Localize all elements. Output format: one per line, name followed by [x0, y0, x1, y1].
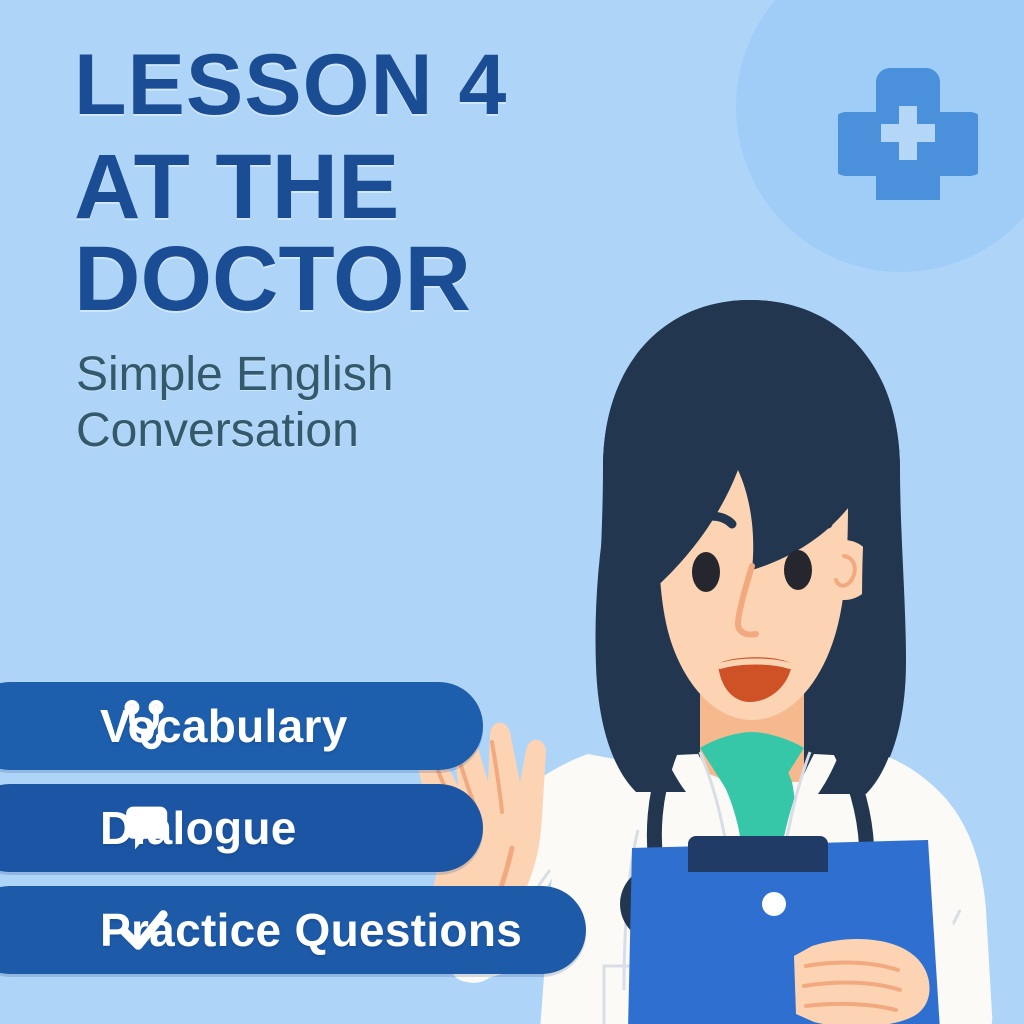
pill-practice-questions[interactable]: Practice Questions [0, 886, 586, 974]
pill-dialogue[interactable]: Dialogue [0, 784, 483, 872]
topic-title-line-2: DOCTOR [74, 233, 694, 325]
subtitle-block: Simple English Conversation [76, 347, 496, 460]
subtitle-line-1: Simple English [76, 347, 496, 404]
lesson-number-title: LESSON 4 [74, 44, 694, 127]
check-icon [116, 902, 172, 958]
pill-vocabulary[interactable]: Vocabulary [0, 682, 483, 770]
topic-title-line-1: AT THE [74, 141, 694, 233]
medical-cross-icon [838, 60, 978, 200]
feature-pill-list: Vocabulary Dialogue Practice [0, 682, 586, 974]
poster-canvas: LESSON 4 AT THE DOCTOR Simple English Co… [0, 0, 1024, 1024]
speech-bubble-icon [116, 800, 172, 856]
subtitle-line-2: Conversation [76, 403, 496, 460]
headline-block: LESSON 4 AT THE DOCTOR Simple English Co… [74, 44, 694, 460]
stethoscope-icon [116, 698, 172, 754]
